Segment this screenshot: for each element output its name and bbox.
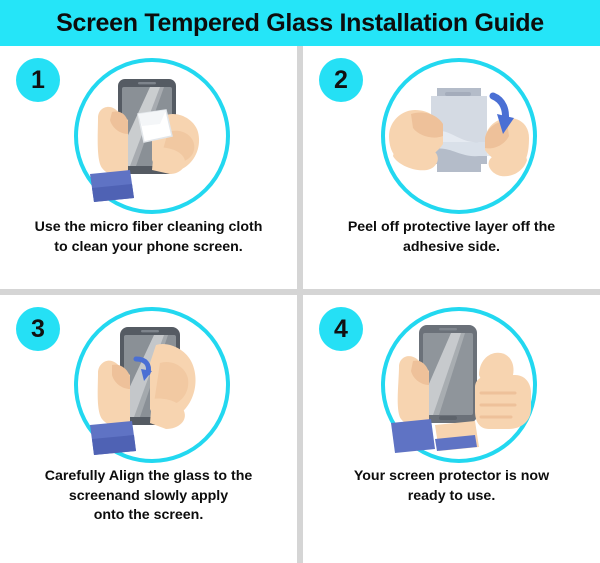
step-number-badge-1: 1 bbox=[16, 58, 60, 102]
step-caption-3: Carefully Align the glass to the screena… bbox=[8, 467, 289, 526]
step-number-badge-3: 3 bbox=[16, 307, 60, 351]
caption-line: adhesive side. bbox=[311, 238, 592, 258]
caption-line: Peel off protective layer off the bbox=[311, 218, 592, 238]
step-panel-1: 1 bbox=[0, 46, 297, 289]
step-number-badge-4: 4 bbox=[319, 307, 363, 351]
step-panel-3: 3 bbox=[0, 295, 297, 563]
step-illustration-4 bbox=[375, 301, 543, 469]
caption-line: Carefully Align the glass to the bbox=[8, 467, 289, 487]
page-title: Screen Tempered Glass Installation Guide bbox=[56, 9, 544, 38]
caption-line: Your screen protector is now bbox=[311, 467, 592, 487]
step-illustration-3 bbox=[68, 301, 236, 469]
step-panel-4: 4 bbox=[303, 295, 600, 563]
caption-line: screenand slowly apply bbox=[8, 487, 289, 507]
caption-line: to clean your phone screen. bbox=[8, 238, 289, 258]
caption-line: ready to use. bbox=[311, 487, 592, 507]
step-illustration-1 bbox=[68, 52, 236, 220]
caption-line: Use the micro fiber cleaning cloth bbox=[8, 218, 289, 238]
step-panel-2: 2 bbox=[303, 46, 600, 289]
step-caption-2: Peel off protective layer off the adhesi… bbox=[311, 218, 592, 257]
steps-grid: 1 bbox=[0, 46, 600, 563]
step-caption-1: Use the micro fiber cleaning cloth to cl… bbox=[8, 218, 289, 257]
step-illustration-2 bbox=[375, 52, 543, 220]
step-number-badge-2: 2 bbox=[319, 58, 363, 102]
caption-line: onto the screen. bbox=[8, 506, 289, 526]
step-caption-4: Your screen protector is now ready to us… bbox=[311, 467, 592, 506]
header-banner: Screen Tempered Glass Installation Guide bbox=[0, 0, 600, 46]
